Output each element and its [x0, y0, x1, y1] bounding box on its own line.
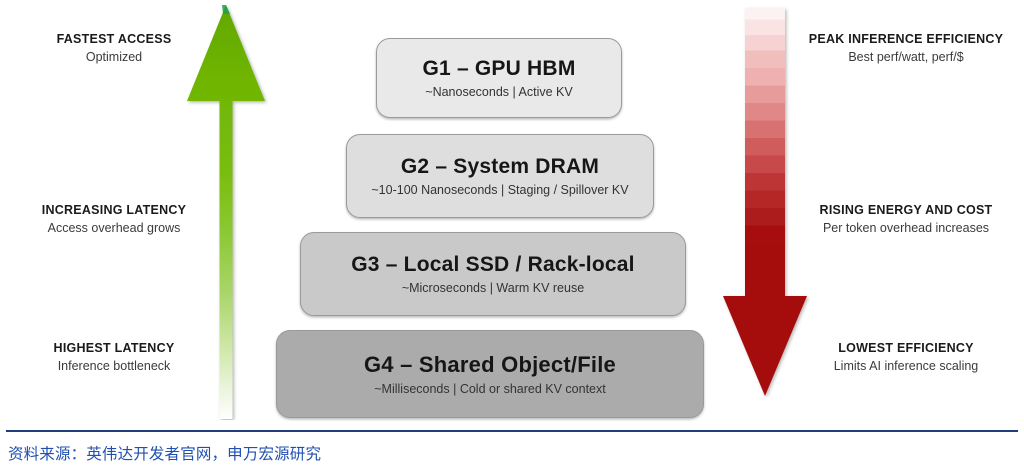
green-up-arrow	[176, 0, 276, 420]
tier-card-g4[interactable]: G4 – Shared Object/File ~Milliseconds | …	[276, 330, 704, 418]
right-label-rising-energy-and-cost: RISING ENERGY AND COST Per token overhea…	[796, 203, 1016, 236]
right-label-lowest-efficiency-title: LOWEST EFFICIENCY	[796, 341, 1016, 357]
right-label-peak-inference-efficiency: PEAK INFERENCE EFFICIENCY Best perf/watt…	[796, 32, 1016, 65]
tier-card-g4-title: G4 – Shared Object/File	[364, 352, 616, 378]
tier-card-g2-title: G2 – System DRAM	[401, 155, 599, 179]
tier-card-g2[interactable]: G2 – System DRAM ~10-100 Nanoseconds | S…	[346, 134, 654, 218]
right-label-peak-inference-efficiency-sub: Best perf/watt, perf/$	[796, 50, 1016, 66]
green-arrow-tip-highlight	[222, 5, 230, 14]
tier-card-g1-subtitle: ~Nanoseconds | Active KV	[425, 85, 572, 99]
footer-divider	[6, 430, 1018, 432]
tier-card-g3[interactable]: G3 – Local SSD / Rack-local ~Microsecond…	[300, 232, 686, 316]
right-label-peak-inference-efficiency-title: PEAK INFERENCE EFFICIENCY	[796, 32, 1016, 48]
tier-card-g3-subtitle: ~Microseconds | Warm KV reuse	[402, 281, 584, 295]
red-arrow-shape	[723, 8, 807, 396]
footer-source-text: 资料来源：英伟达开发者官网，申万宏源研究	[8, 442, 321, 464]
slide-canvas: FASTEST ACCESS Optimized INCREASING LATE…	[0, 0, 1024, 475]
green-arrow-shape	[187, 5, 265, 419]
tier-card-g1[interactable]: G1 – GPU HBM ~Nanoseconds | Active KV	[376, 38, 622, 118]
tier-card-g3-title: G3 – Local SSD / Rack-local	[351, 253, 634, 277]
right-label-rising-energy-and-cost-title: RISING ENERGY AND COST	[796, 203, 1016, 219]
right-label-lowest-efficiency: LOWEST EFFICIENCY Limits AI inference sc…	[796, 341, 1016, 374]
right-label-lowest-efficiency-sub: Limits AI inference scaling	[796, 359, 1016, 375]
tier-card-g4-subtitle: ~Milliseconds | Cold or shared KV contex…	[374, 382, 605, 396]
tier-card-g2-subtitle: ~10-100 Nanoseconds | Staging / Spillove…	[371, 183, 628, 197]
right-label-rising-energy-and-cost-sub: Per token overhead increases	[796, 221, 1016, 237]
tier-card-g1-title: G1 – GPU HBM	[422, 57, 575, 81]
